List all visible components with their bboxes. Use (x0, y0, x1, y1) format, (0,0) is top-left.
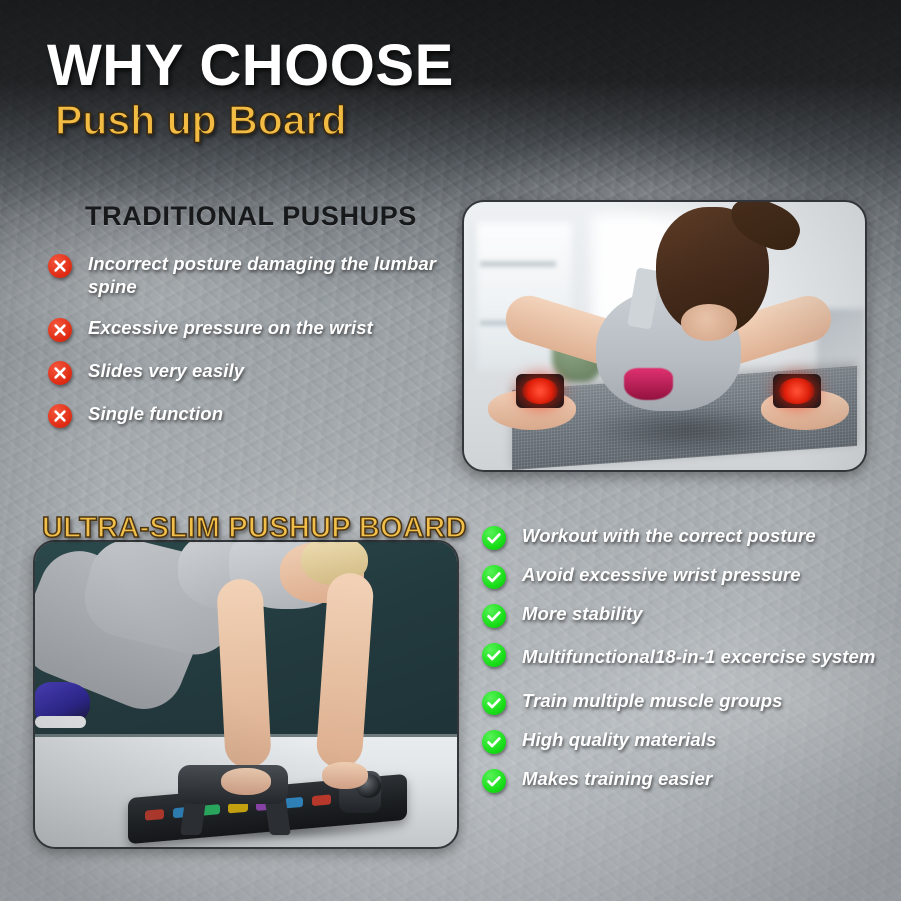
check-icon (482, 526, 506, 550)
poster-canvas: WHY CHOOSE Push up Board TRADITIONAL PUS… (0, 0, 901, 901)
check-icon (482, 691, 506, 715)
list-item: Makes training easier (482, 767, 882, 793)
list-item: More stability (482, 602, 882, 628)
list-item: Multifunctional18-in-1 excercise system (482, 641, 882, 673)
list-item-label: Multifunctional18-in-1 excercise system (522, 641, 875, 673)
list-item: Slides very easily (48, 359, 458, 385)
check-icon (482, 643, 506, 667)
list-item: Avoid excessive wrist pressure (482, 563, 882, 589)
cross-icon (48, 318, 72, 342)
check-icon (482, 769, 506, 793)
list-item-label: More stability (522, 602, 643, 625)
headline-primary: WHY CHOOSE (47, 36, 454, 95)
list-item-label: Avoid excessive wrist pressure (522, 563, 801, 586)
list-item: Workout with the correct posture (482, 524, 882, 550)
list-item: Incorrect posture damaging the lumbar sp… (48, 252, 458, 299)
list-item-label: Slides very easily (88, 359, 244, 382)
cross-icon (48, 361, 72, 385)
list-item-label: Train multiple muscle groups (522, 689, 782, 712)
woman-floor-pushup-photo (462, 200, 867, 472)
woman-using-pushup-board-photo (33, 540, 459, 849)
ultra-slim-board-heading: ULTRA-SLIM PUSHUP BOARD (42, 512, 467, 545)
traditional-drawbacks-list: Incorrect posture damaging the lumbar sp… (48, 252, 458, 445)
check-icon (482, 730, 506, 754)
wrist-pain-indicator-right (779, 378, 815, 405)
list-item: Single function (48, 402, 458, 428)
list-item-label: Single function (88, 402, 223, 425)
list-item: Train multiple muscle groups (482, 689, 882, 715)
list-item-label: High quality materials (522, 728, 716, 751)
ultra-slim-benefits-list: Workout with the correct posture Avoid e… (482, 524, 882, 806)
check-icon (482, 565, 506, 589)
list-item-label: Incorrect posture damaging the lumbar sp… (88, 252, 458, 299)
list-item-label: Workout with the correct posture (522, 524, 816, 547)
list-item-label: Makes training easier (522, 767, 712, 790)
cross-icon (48, 404, 72, 428)
headline-secondary: Push up Board (55, 99, 454, 142)
check-icon (482, 604, 506, 628)
list-item: High quality materials (482, 728, 882, 754)
list-item-label: Excessive pressure on the wrist (88, 316, 373, 339)
headline-block: WHY CHOOSE Push up Board (47, 36, 454, 142)
cross-icon (48, 254, 72, 278)
traditional-pushups-heading: TRADITIONAL PUSHUPS (85, 201, 417, 232)
list-item: Excessive pressure on the wrist (48, 316, 458, 342)
